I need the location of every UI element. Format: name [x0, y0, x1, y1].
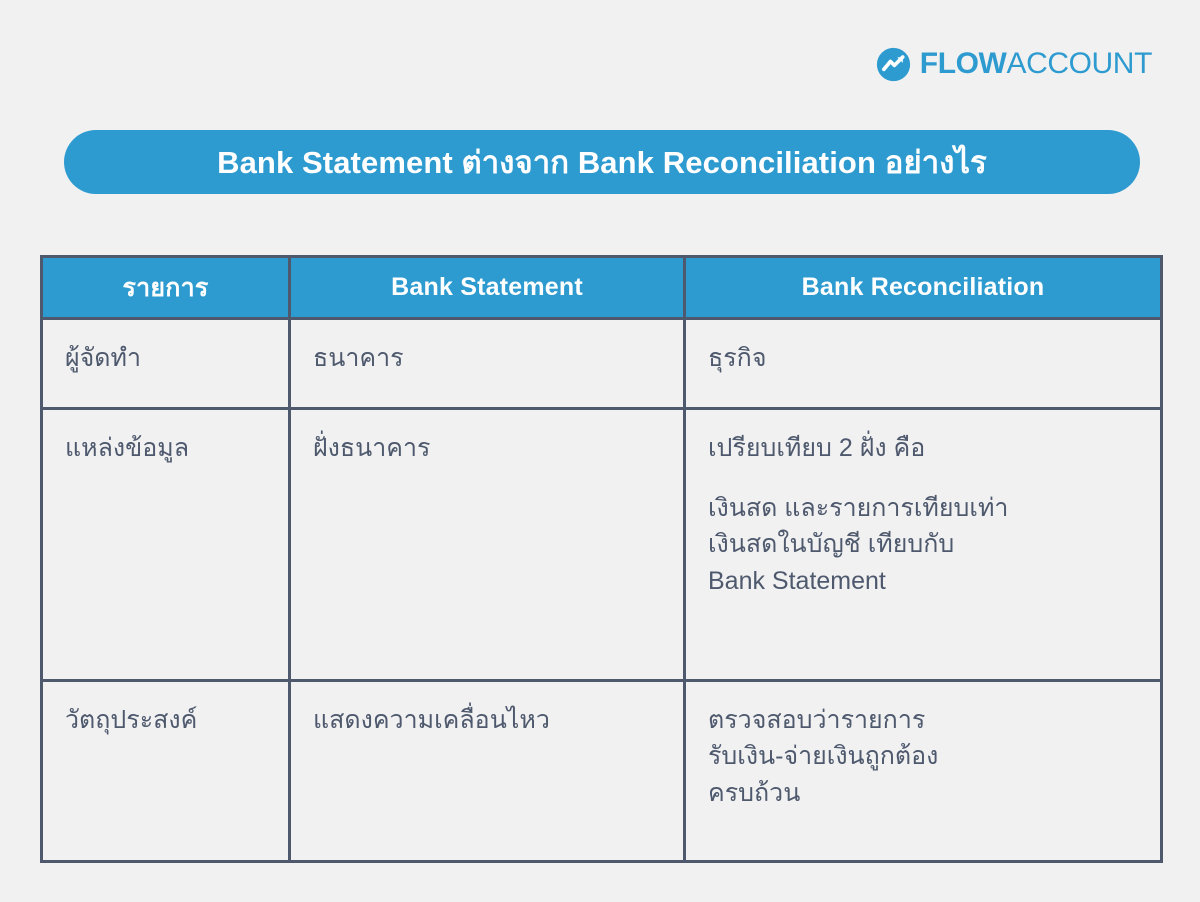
comparison-table: รายการ Bank Statement Bank Reconciliatio… [40, 255, 1163, 863]
brand-wordmark: FLOWACCOUNT [920, 49, 1152, 79]
brand-name-flow: FLOW [920, 49, 1007, 79]
title-banner: Bank Statement ต่างจาก Bank Reconciliati… [64, 130, 1140, 194]
cell-reconciliation-preparer: ธุรกิจ [685, 319, 1162, 409]
column-header-bank-statement: Bank Statement [290, 257, 685, 319]
table-header-row: รายการ Bank Statement Bank Reconciliatio… [42, 257, 1162, 319]
cell-statement-preparer: ธนาคาร [290, 319, 685, 409]
cell-reconciliation-data-source: เปรียบเทียบ 2 ฝั่ง คือเงินสด และรายการเท… [685, 409, 1162, 681]
flowaccount-circle-chart-icon [876, 47, 911, 82]
cell-reconciliation-objective: ตรวจสอบว่ารายการรับเงิน-จ่ายเงินถูกต้องค… [685, 681, 1162, 862]
cell-statement-data-source: ฝั่งธนาคาร [290, 409, 685, 681]
row-label-objective: วัตถุประสงค์ [42, 681, 290, 862]
table-body: ผู้จัดทำ ธนาคาร ธุรกิจ แหล่งข้อมูล ฝั่งธ… [42, 319, 1162, 862]
table-row: แหล่งข้อมูล ฝั่งธนาคาร เปรียบเทียบ 2 ฝั่… [42, 409, 1162, 681]
infographic-page: FLOWACCOUNT Bank Statement ต่างจาก Bank … [0, 0, 1200, 902]
table-row: วัตถุประสงค์ แสดงความเคลื่อนไหว ตรวจสอบว… [42, 681, 1162, 862]
brand-name-account: ACCOUNT [1006, 49, 1152, 79]
table-header: รายการ Bank Statement Bank Reconciliatio… [42, 257, 1162, 319]
column-header-bank-reconciliation: Bank Reconciliation [685, 257, 1162, 319]
row-label-data-source: แหล่งข้อมูล [42, 409, 290, 681]
column-header-category: รายการ [42, 257, 290, 319]
page-title: Bank Statement ต่างจาก Bank Reconciliati… [217, 147, 987, 178]
cell-statement-objective: แสดงความเคลื่อนไหว [290, 681, 685, 862]
brand-logo: FLOWACCOUNT [876, 42, 1152, 86]
table-row: ผู้จัดทำ ธนาคาร ธุรกิจ [42, 319, 1162, 409]
row-label-preparer: ผู้จัดทำ [42, 319, 290, 409]
